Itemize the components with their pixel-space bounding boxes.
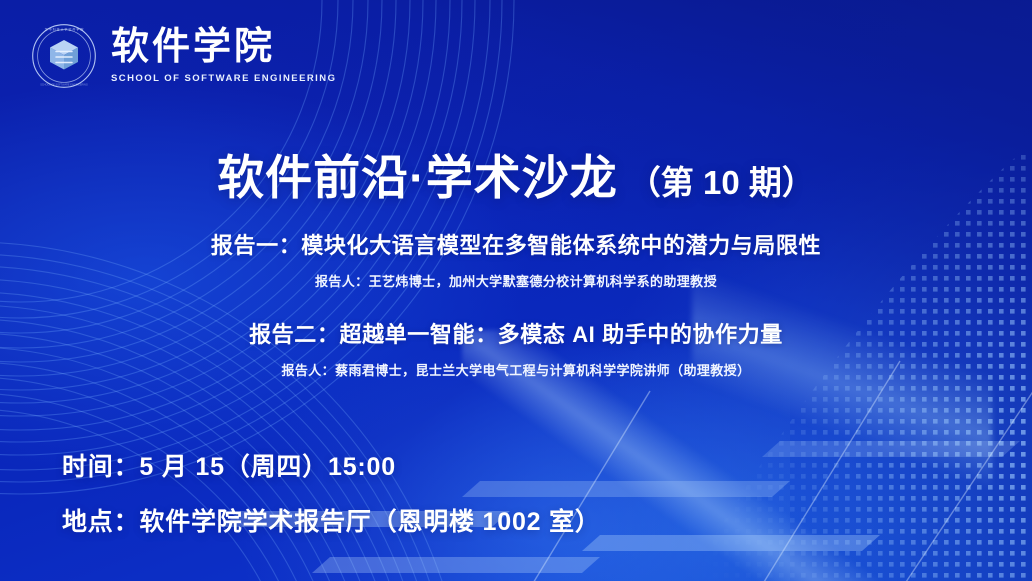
talk-item: 报告一：模块化大语言模型在多智能体系统中的潜力与局限性 报告人：王艺炜博士，加州…: [0, 228, 1032, 290]
talk-speaker: 报告人：王艺炜博士，加州大学默塞德分校计算机科学系的助理教授: [0, 271, 1032, 290]
talk-item: 报告二：超越单一智能：多模态 AI 助手中的协作力量 报告人：蔡雨君博士，昆士兰…: [0, 317, 1032, 379]
brand-name-cn: 软件学院: [111, 28, 336, 68]
brand-text: 软件学院 SCHOOL OF SOFTWARE ENGINEERING: [111, 28, 336, 84]
talk-list: 报告一：模块化大语言模型在多智能体系统中的潜力与局限性 报告人：王艺炜博士，加州…: [0, 228, 1032, 379]
svg-text:SCHOOL OF SOFTWARE ENGINEERING: SCHOOL OF SOFTWARE ENGINEERING: [40, 83, 88, 86]
talk-title: 报告一：模块化大语言模型在多智能体系统中的潜力与局限性: [0, 228, 1032, 260]
talk-speaker: 报告人：蔡雨君博士，昆士兰大学电气工程与计算机科学学院讲师（助理教授）: [0, 360, 1032, 379]
brand-name-en: SCHOOL OF SOFTWARE ENGINEERING: [111, 73, 336, 84]
svg-text:华 中 科 技 大 学 软 件 学 院: 华 中 科 技 大 学 软 件 学 院: [45, 26, 84, 31]
event-details: 时间：5 月 15（周四）15:00 地点：软件学院学术报告厅（恩明楼 1002…: [62, 447, 601, 538]
school-seal-icon: 华 中 科 技 大 学 软 件 学 院 SCHOOL OF SOFTWARE E…: [31, 23, 97, 89]
event-location: 地点：软件学院学术报告厅（恩明楼 1002 室）: [62, 502, 601, 538]
title-issue-badge: （第 10 期）: [628, 164, 815, 201]
header-brand: 华 中 科 技 大 学 软 件 学 院 SCHOOL OF SOFTWARE E…: [31, 23, 336, 89]
event-time: 时间：5 月 15（周四）15:00: [62, 447, 601, 483]
page-title: 软件前沿·学术沙龙（第 10 期）: [0, 139, 1032, 208]
talk-title: 报告二：超越单一智能：多模态 AI 助手中的协作力量: [0, 317, 1032, 349]
title-main-text: 软件前沿·学术沙龙: [217, 151, 618, 204]
poster-canvas: 华 中 科 技 大 学 软 件 学 院 SCHOOL OF SOFTWARE E…: [0, 0, 1032, 581]
